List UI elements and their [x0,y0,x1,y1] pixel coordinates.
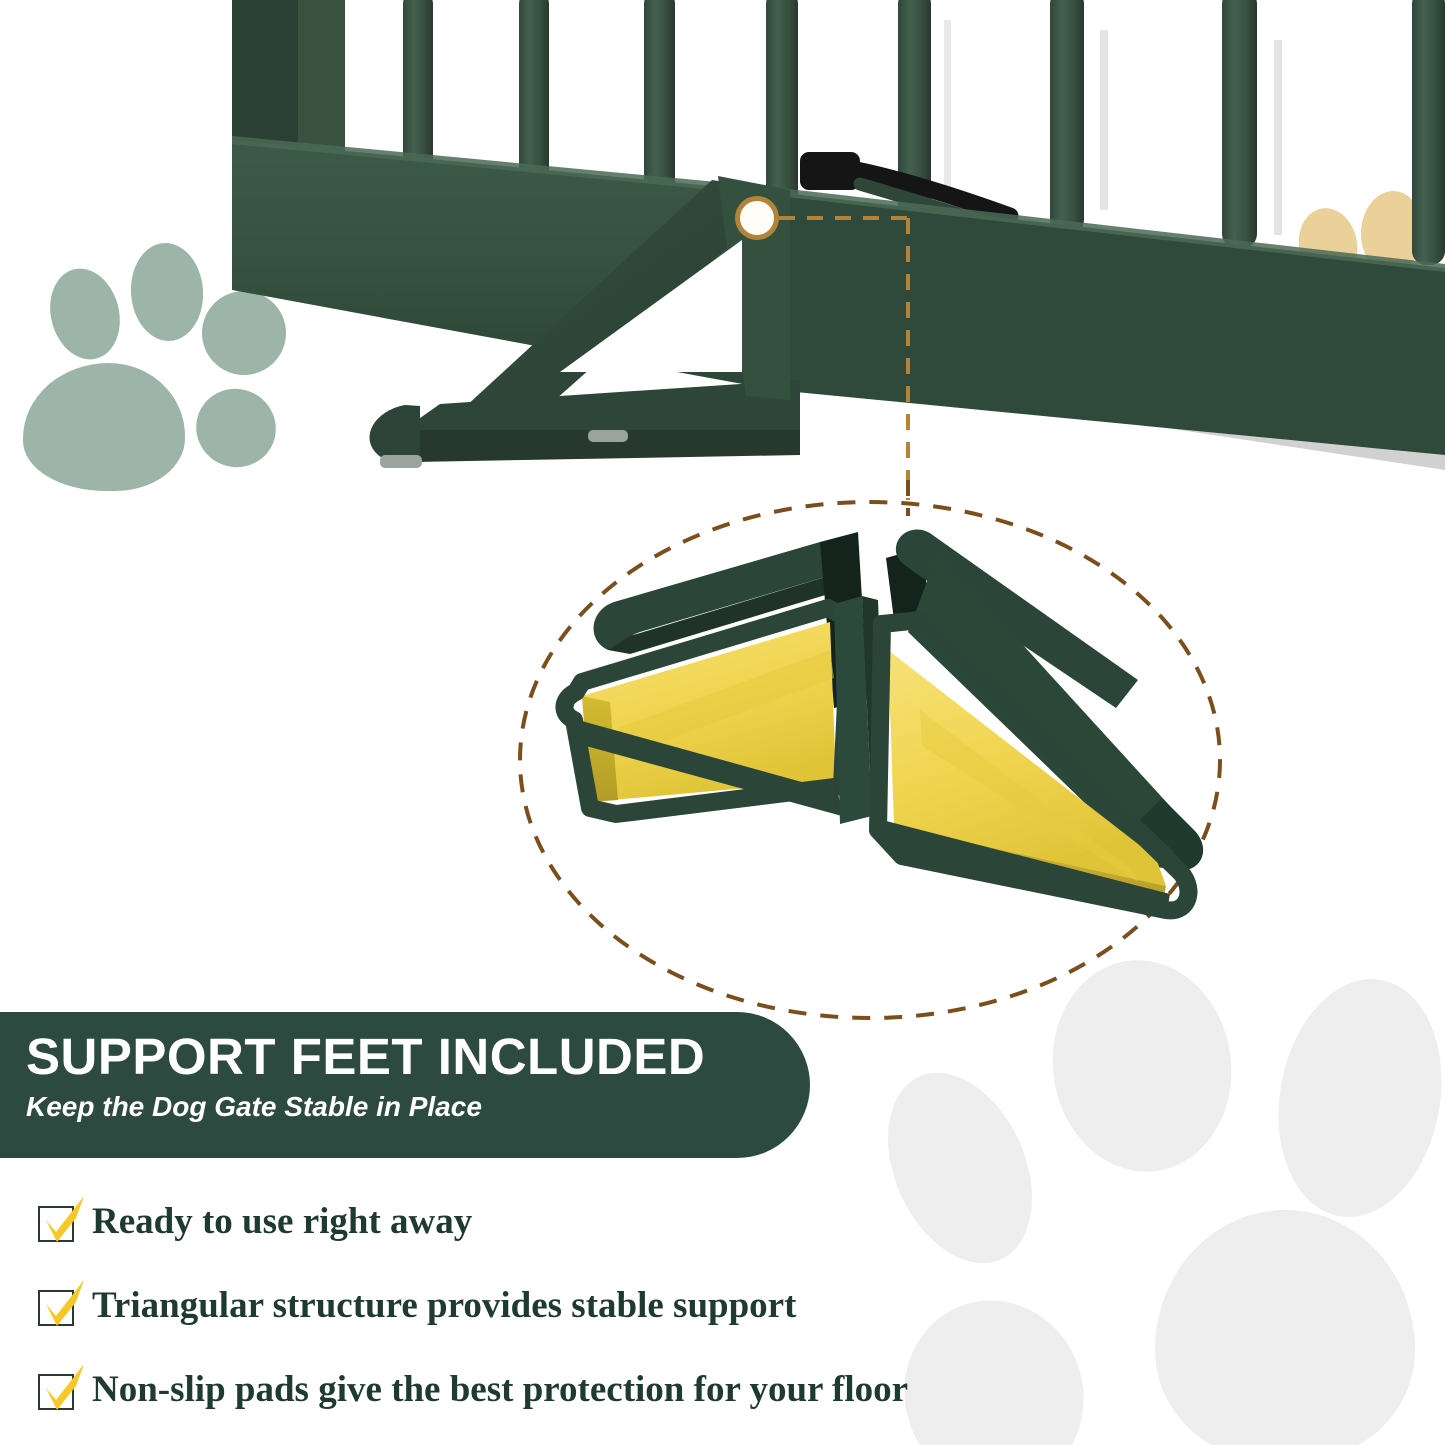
feature-banner: SUPPORT FEET INCLUDED Keep the Dog Gate … [0,1012,810,1158]
check-icon [36,1368,78,1410]
product-feature-graphic: SUPPORT FEET INCLUDED Keep the Dog Gate … [0,0,1445,1445]
list-item-label: Non-slip pads give the best protection f… [92,1371,908,1408]
list-item: Triangular structure provides stable sup… [36,1267,1336,1343]
list-item: Ready to use right away [36,1183,1336,1259]
list-item-label: Triangular structure provides stable sup… [92,1287,796,1324]
support-feet-product [564,529,1203,916]
banner-title: SUPPORT FEET INCLUDED [26,1030,810,1083]
feature-bullet-list: Ready to use right away Triangular struc… [36,1183,1336,1435]
support-feet-callout [490,180,1290,1030]
list-item-label: Ready to use right away [92,1203,472,1240]
banner-subtitle: Keep the Dog Gate Stable in Place [26,1089,810,1124]
check-icon [36,1200,78,1242]
list-item: Non-slip pads give the best protection f… [36,1351,1336,1427]
check-icon [36,1284,78,1326]
